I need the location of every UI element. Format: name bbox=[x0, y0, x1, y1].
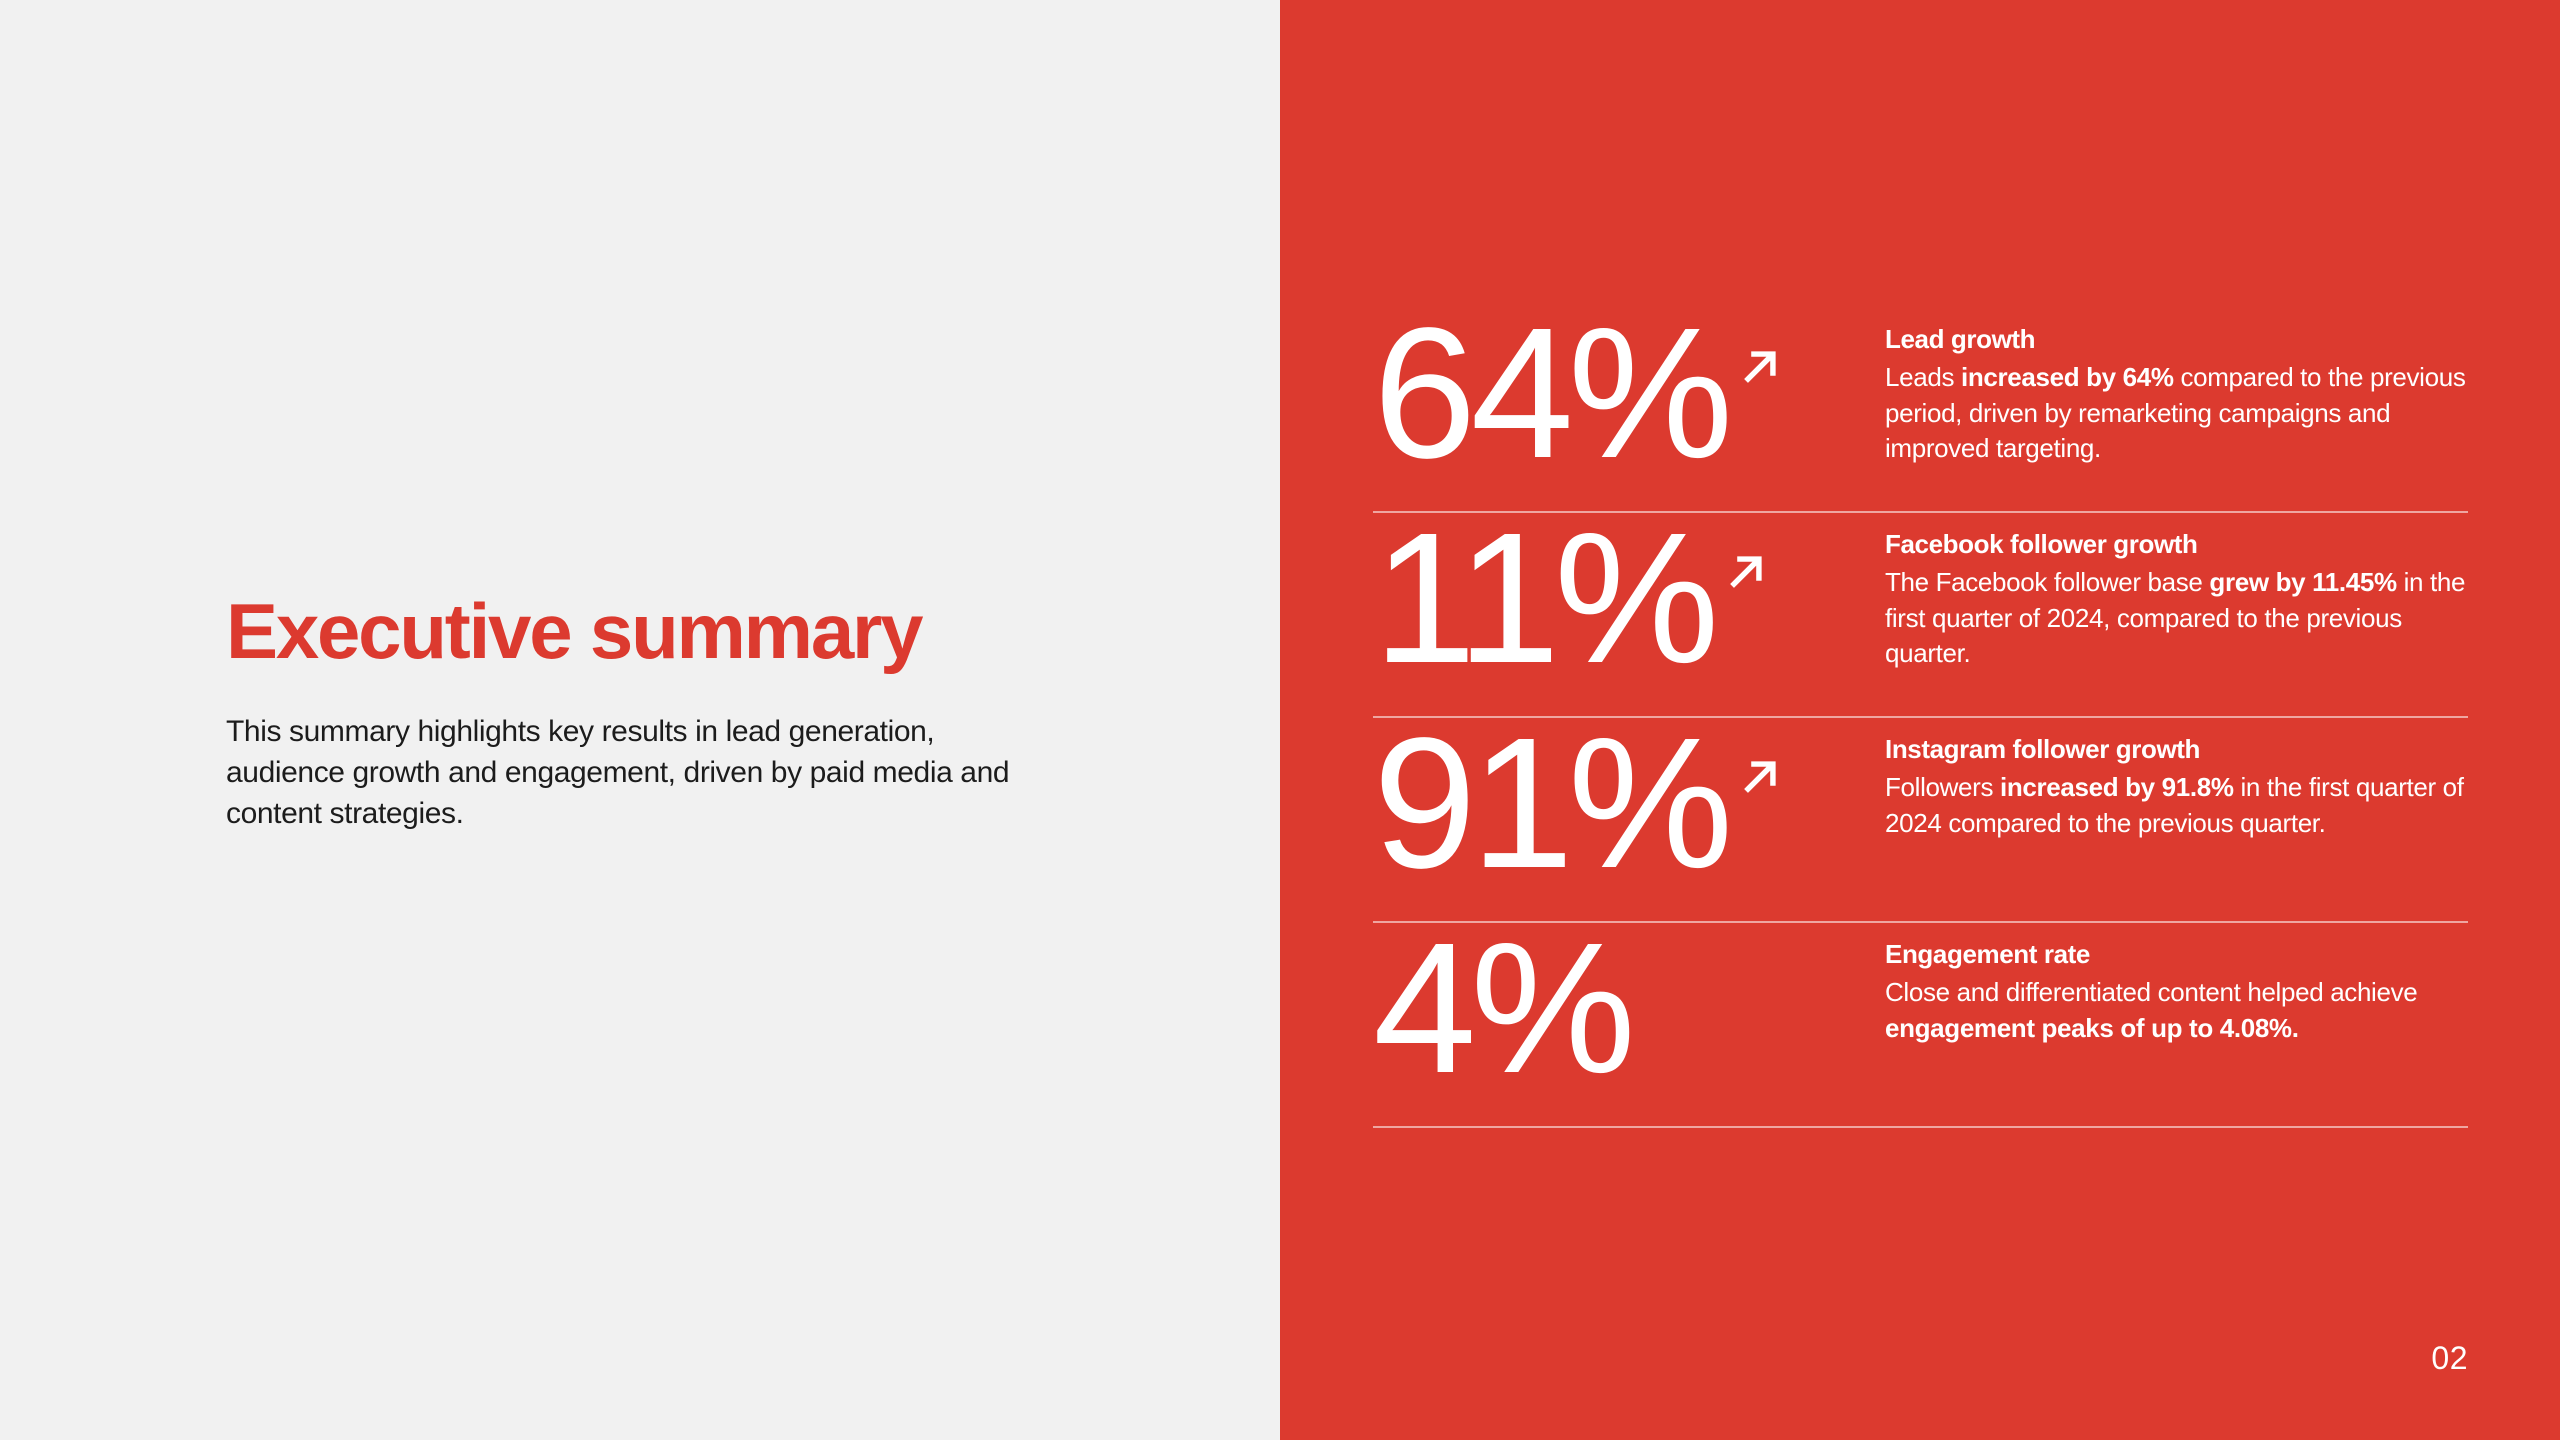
left-content-block: Executive summary This summary highlight… bbox=[226, 592, 1056, 834]
stat-value: 4% bbox=[1373, 933, 1630, 1086]
stat-row: 64%Lead growthLeads increased by 64% com… bbox=[1373, 308, 2468, 513]
arrow-up-right-icon bbox=[1729, 336, 1791, 398]
stat-row: 4%Engagement rateClose and differentiate… bbox=[1373, 923, 2468, 1128]
stat-heading: Instagram follower growth bbox=[1885, 734, 2468, 765]
stat-description: The Facebook follower base grew by 11.45… bbox=[1885, 565, 2468, 671]
stat-figure: 4% bbox=[1373, 923, 1883, 1086]
stat-text: Lead growthLeads increased by 64% compar… bbox=[1883, 308, 2468, 466]
stat-text: Facebook follower growthThe Facebook fol… bbox=[1883, 513, 2468, 671]
stat-row: 91%Instagram follower growthFollowers in… bbox=[1373, 718, 2468, 923]
right-panel: 64%Lead growthLeads increased by 64% com… bbox=[1280, 0, 2560, 1440]
stats-list: 64%Lead growthLeads increased by 64% com… bbox=[1373, 308, 2468, 1128]
stat-description: Leads increased by 64% compared to the p… bbox=[1885, 360, 2468, 466]
stat-value: 64% bbox=[1373, 318, 1727, 471]
page-number: 02 bbox=[2431, 1342, 2468, 1374]
stat-heading: Engagement rate bbox=[1885, 939, 2468, 970]
stat-text: Engagement rateClose and differentiated … bbox=[1883, 923, 2468, 1046]
stat-description: Followers increased by 91.8% in the firs… bbox=[1885, 770, 2468, 841]
arrow-up-right-icon bbox=[1729, 746, 1791, 808]
arrow-up-right-icon bbox=[1715, 541, 1777, 603]
left-panel: Executive summary This summary highlight… bbox=[0, 0, 1280, 1440]
stat-figure: 64% bbox=[1373, 308, 1883, 471]
stat-row: 11%Facebook follower growthThe Facebook … bbox=[1373, 513, 2468, 718]
stat-value: 11% bbox=[1373, 523, 1713, 676]
stat-text: Instagram follower growthFollowers incre… bbox=[1883, 718, 2468, 841]
stat-heading: Facebook follower growth bbox=[1885, 529, 2468, 560]
stat-value: 91% bbox=[1373, 728, 1727, 881]
stat-figure: 11% bbox=[1373, 513, 1883, 676]
page-subtitle: This summary highlights key results in l… bbox=[226, 670, 1026, 834]
stat-figure: 91% bbox=[1373, 718, 1883, 881]
stat-heading: Lead growth bbox=[1885, 324, 2468, 355]
page-title: Executive summary bbox=[226, 592, 1056, 670]
stat-description: Close and differentiated content helped … bbox=[1885, 975, 2468, 1046]
slide-executive-summary: Executive summary This summary highlight… bbox=[0, 0, 2560, 1440]
